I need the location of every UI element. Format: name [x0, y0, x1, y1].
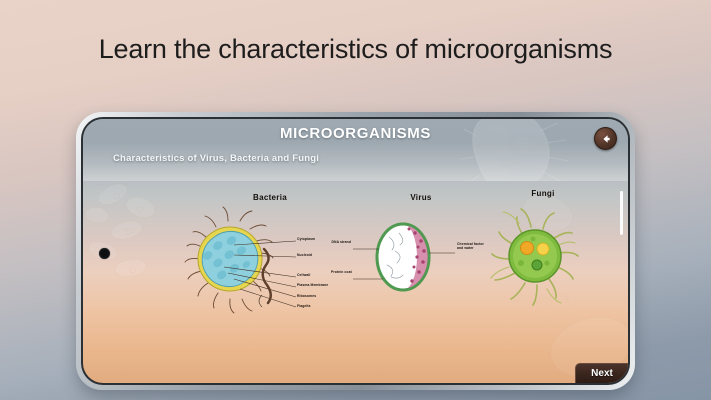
section-fungi: Fungi [483, 189, 603, 198]
next-button[interactable]: Next [575, 363, 628, 383]
label-cytoplasm: Cytoplasm [297, 238, 315, 242]
phone-mockup: MICROORGANISMS Characteristics of Virus,… [76, 112, 635, 390]
page-title: Learn the characteristics of microorgani… [0, 34, 711, 65]
slide-content: Bacteria [83, 181, 628, 383]
section-bacteria: Bacteria [195, 193, 345, 202]
virus-diagram [345, 209, 465, 309]
label-flagella: Flagella [297, 305, 310, 309]
app-subtitle: Characteristics of Virus, Bacteria and F… [113, 153, 319, 164]
section-title-virus: Virus [361, 193, 481, 202]
label-ribosomes: Ribosomes [297, 295, 316, 299]
bacteria-diagram [178, 203, 348, 321]
app-title: MICROORGANISMS [83, 125, 628, 142]
back-arrow-icon [600, 133, 612, 145]
section-title-bacteria: Bacteria [195, 193, 345, 202]
section-title-fungi: Fungi [483, 189, 603, 198]
label-nucleoid: Nucleoid [297, 254, 312, 258]
section-virus: Virus [361, 193, 481, 202]
label-dna-strand: DNA strand [331, 241, 351, 245]
phone-bezel: MICROORGANISMS Characteristics of Virus,… [81, 117, 630, 385]
label-cellwall: Cellwall [297, 274, 310, 278]
label-protein-coat: Protein coat [331, 271, 351, 275]
phone-screen: MICROORGANISMS Characteristics of Virus,… [83, 119, 628, 383]
fungi-diagram [475, 203, 595, 318]
back-button[interactable] [594, 127, 617, 150]
scrollbar[interactable] [620, 191, 623, 235]
label-plasma-membrane: Plasma Membrane [297, 284, 328, 288]
app-header-bar: MICROORGANISMS Characteristics of Virus,… [83, 119, 628, 181]
